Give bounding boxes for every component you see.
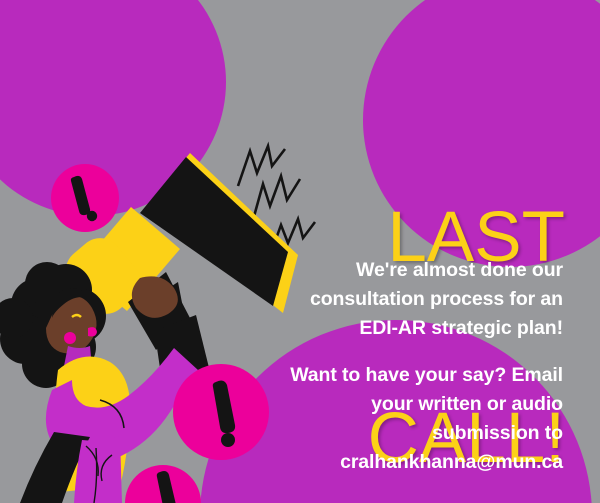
contact-email[interactable]: cralhankhanna@mun.ca <box>273 448 563 477</box>
body-line: We're almost done our <box>273 256 563 285</box>
body-paragraph-2: Want to have your say? Email your writte… <box>273 361 563 476</box>
exclamation-badge-top <box>51 164 119 232</box>
body-line: submission to <box>273 419 563 448</box>
body-line: Want to have your say? Email <box>273 361 563 390</box>
body-line: EDI-AR strategic plan! <box>273 314 563 343</box>
exclamation-badge-middle <box>173 364 269 460</box>
body-line: your written or audio <box>273 390 563 419</box>
poster-canvas: LAST CALL! We're almost done our consult… <box>0 0 600 503</box>
exclamation-dot <box>87 211 97 221</box>
exclamation-dot <box>221 433 235 447</box>
body-line: consultation process for an <box>273 285 563 314</box>
exclamation-badge-bottom <box>125 465 201 503</box>
body-paragraph-1: We're almost done our consultation proce… <box>273 256 563 343</box>
